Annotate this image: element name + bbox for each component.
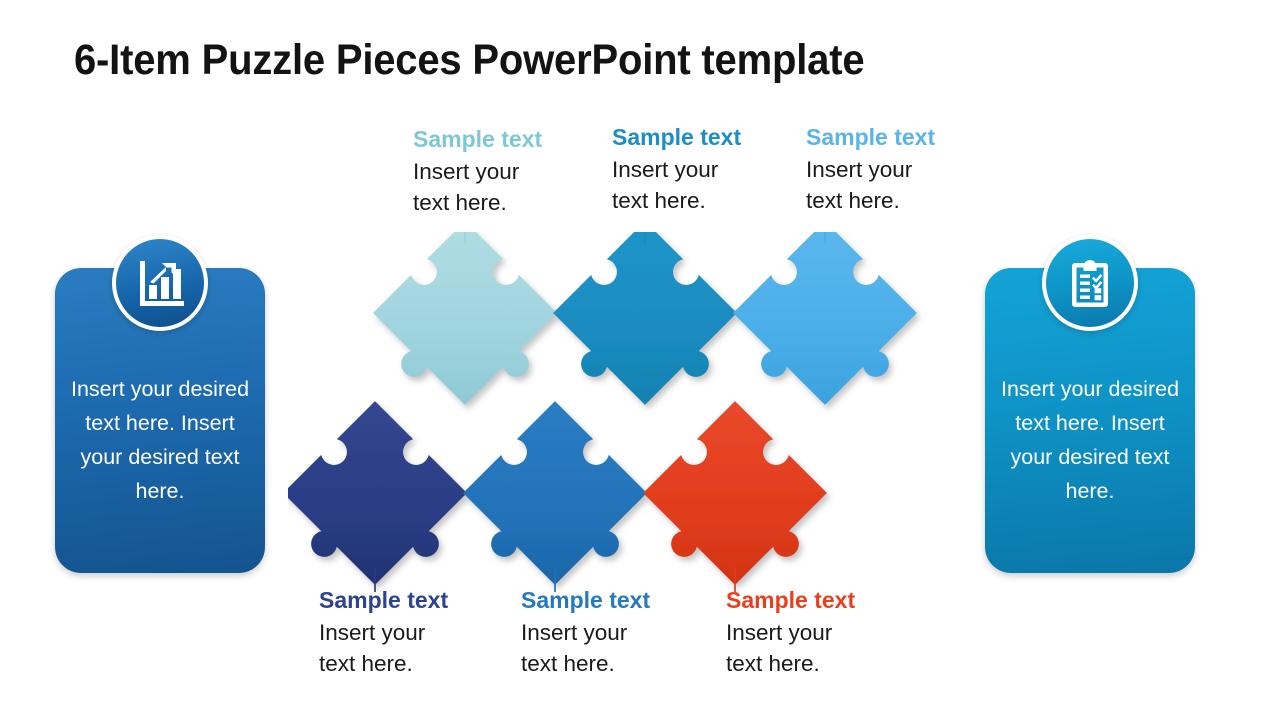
callout-heading: Sample text [413, 126, 593, 153]
callout-bottom-2[interactable]: Sample text Insert your text here. [521, 587, 701, 679]
callout-bottom-3[interactable]: Sample text Insert your text here. [726, 587, 906, 679]
callout-heading: Sample text [806, 124, 986, 151]
callout-body: Insert your text here. [521, 617, 701, 679]
left-panel-text: Insert your desired text here. Insert yo… [55, 372, 265, 508]
callout-body: Insert your text here. [413, 156, 593, 218]
callout-bottom-1[interactable]: Sample text Insert your text here. [319, 587, 499, 679]
callout-body: Insert your text here. [612, 154, 792, 216]
piece-bottom-3[interactable] [629, 401, 841, 592]
piece-top-1[interactable] [359, 232, 571, 433]
piece-bottom-2[interactable] [449, 401, 661, 592]
callout-body: Insert your text here. [319, 617, 499, 679]
piece-top-3[interactable] [719, 232, 931, 433]
callout-heading: Sample text [319, 587, 499, 614]
callout-top-2[interactable]: Sample text Insert your text here. [612, 124, 792, 216]
page-title: 6-Item Puzzle Pieces PowerPoint template [74, 36, 864, 85]
callout-top-1[interactable]: Sample text Insert your text here. [413, 126, 593, 218]
slide-canvas: 6-Item Puzzle Pieces PowerPoint template… [0, 0, 1280, 720]
bar-chart-growth-icon [112, 235, 208, 331]
callout-heading: Sample text [726, 587, 906, 614]
clipboard-checklist-icon [1042, 235, 1138, 331]
callout-heading: Sample text [612, 124, 792, 151]
callout-top-3[interactable]: Sample text Insert your text here. [806, 124, 986, 216]
callout-body: Insert your text here. [806, 154, 986, 216]
callout-body: Insert your text here. [726, 617, 906, 679]
puzzle-board [288, 232, 978, 592]
callout-heading: Sample text [521, 587, 701, 614]
piece-top-2[interactable] [539, 232, 751, 433]
piece-bottom-1[interactable] [288, 401, 481, 592]
right-panel-text: Insert your desired text here. Insert yo… [985, 372, 1195, 508]
